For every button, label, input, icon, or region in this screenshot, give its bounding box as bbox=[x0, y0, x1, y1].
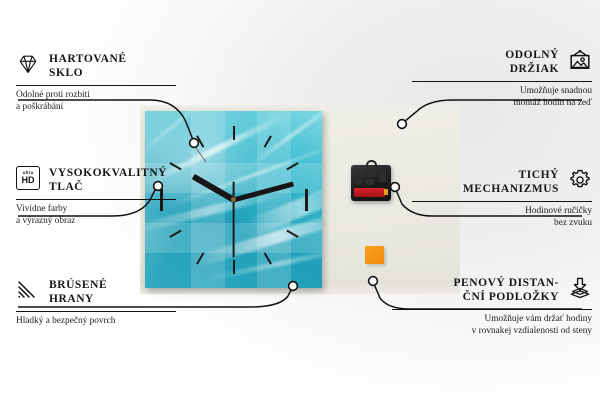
clock-center-cap bbox=[231, 197, 236, 202]
feature-title: HARTOVANÉ SKLO bbox=[49, 52, 127, 80]
feature-head: ODOLNÝ DRŽIAK bbox=[412, 48, 592, 76]
feature-rule bbox=[16, 199, 176, 200]
feature-tempered-glass: HARTOVANÉ SKLO Odolné proti rozbití a po… bbox=[16, 52, 176, 114]
feature-description: Hodinové ručičky bez zvuku bbox=[412, 206, 592, 229]
feature-durable-holder: ODOLNÝ DRŽIAK Umožňuje snadnou montáž ho… bbox=[412, 48, 592, 110]
mechanism-hook bbox=[366, 160, 377, 167]
feature-title: PENOVÝ DISTAN- ČNÍ PODLOŽKY bbox=[453, 276, 559, 304]
feature-foam-spacers: PENOVÝ DISTAN- ČNÍ PODLOŽKY Umožňuje vám… bbox=[392, 276, 592, 338]
mechanism-battery bbox=[354, 188, 385, 197]
feature-description: Odolné proti rozbití a poškrábání bbox=[16, 90, 176, 113]
feature-rule bbox=[412, 201, 592, 202]
feature-rule bbox=[392, 309, 592, 310]
feature-rule bbox=[412, 81, 592, 82]
foam-spacer-icon bbox=[568, 276, 592, 300]
foam-spacer-pad bbox=[365, 246, 384, 264]
feature-beveled-edges: BRÚSENÉ HRANY Hladký a bezpečný povrch bbox=[16, 278, 176, 328]
infographic-stage: HARTOVANÉ SKLO Odolné proti rozbití a po… bbox=[0, 0, 600, 400]
feature-high-quality-print: ultra HD VYSOKOKVALITNÝ TLAČ Vivídne far… bbox=[16, 166, 176, 228]
feature-rule bbox=[16, 311, 176, 312]
picture-hanger-icon bbox=[568, 48, 592, 72]
diamond-icon bbox=[16, 52, 40, 76]
feature-head: HARTOVANÉ SKLO bbox=[16, 52, 176, 80]
battery-terminal bbox=[384, 189, 388, 195]
mechanism-detail bbox=[356, 170, 365, 177]
mechanism-detail bbox=[365, 179, 374, 185]
feature-title: TICHÝ MECHANIZMUS bbox=[463, 168, 559, 196]
feature-head: TICHÝ MECHANIZMUS bbox=[412, 168, 592, 196]
feature-head: BRÚSENÉ HRANY bbox=[16, 278, 176, 306]
feature-title: BRÚSENÉ HRANY bbox=[49, 278, 107, 306]
feature-head: ultra HD VYSOKOKVALITNÝ TLAČ bbox=[16, 166, 176, 194]
feature-silent-mechanism: TICHÝ MECHANIZMUS Hodinové ručičky bez z… bbox=[412, 168, 592, 230]
feature-rule bbox=[16, 85, 176, 86]
beveled-edges-icon bbox=[16, 278, 40, 302]
feature-description: Vivídne farby a výrazný obraz bbox=[16, 204, 176, 227]
feature-head: PENOVÝ DISTAN- ČNÍ PODLOŽKY bbox=[392, 276, 592, 304]
gear-icon bbox=[568, 168, 592, 192]
feature-title: ODOLNÝ DRŽIAK bbox=[505, 48, 559, 76]
feature-description: Umožňuje snadnou montáž hodin na zeď bbox=[412, 86, 592, 109]
ultra-hd-icon: ultra HD bbox=[16, 166, 40, 190]
ultra-hd-hd-text: HD bbox=[22, 176, 35, 185]
mechanism-detail bbox=[368, 170, 376, 177]
clock-second-hand bbox=[233, 181, 235, 257]
mechanism-detail bbox=[379, 170, 386, 182]
clock-mechanism bbox=[351, 165, 391, 201]
feature-description: Umožňuje vám držať hodiny v rovnakej vzd… bbox=[392, 314, 592, 337]
mechanism-detail bbox=[356, 179, 362, 185]
feature-title: VYSOKOKVALITNÝ TLAČ bbox=[49, 166, 167, 194]
feature-description: Hladký a bezpečný povrch bbox=[16, 316, 176, 328]
